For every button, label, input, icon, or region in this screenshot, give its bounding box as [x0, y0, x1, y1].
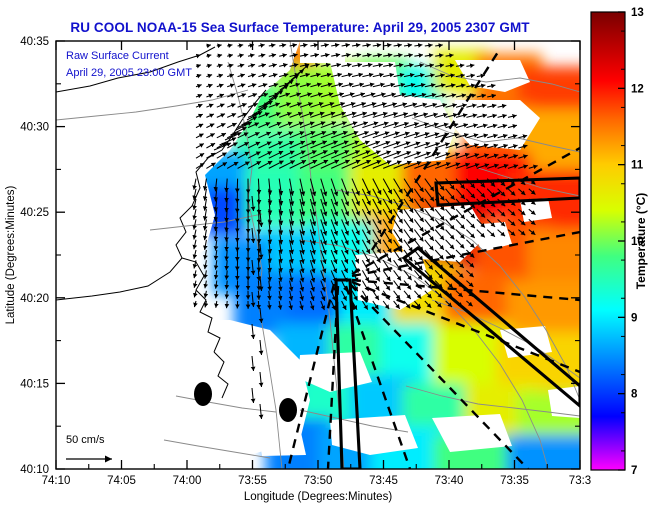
radar-site-east [279, 398, 297, 422]
current-vector [258, 281, 259, 291]
x-tick-label: 74:05 [107, 475, 136, 487]
temperature-field [56, 41, 594, 483]
current-vector [258, 270, 259, 281]
sst-map-figure: Raw Surface Current April 29, 2005 23:00… [0, 0, 651, 515]
colorbar-tick-label: 11 [631, 160, 644, 172]
y-axis-label: Latitude (Degrees:Minutes) [5, 185, 17, 324]
current-vector [227, 301, 228, 308]
colorbar-tick-label: 9 [631, 312, 637, 324]
y-tick-label: 40:20 [20, 293, 49, 305]
colorbar: 78910111213 Temperature (°C) [591, 7, 648, 477]
y-tick-label: 40:25 [20, 207, 49, 219]
current-vector [226, 291, 227, 299]
x-tick-label: 73:55 [238, 475, 267, 487]
y-tick-label: 40:15 [20, 378, 49, 390]
scale-legend-label: 50 cm/s [66, 434, 105, 446]
current-vector [258, 301, 259, 309]
x-tick-label: 73:50 [304, 475, 333, 487]
current-vector [258, 291, 259, 300]
x-tick-label: 73:45 [369, 475, 398, 487]
x-tick-label: 73:40 [435, 475, 464, 487]
x-tick-label: 74:10 [42, 475, 71, 487]
figure-root: RU COOL NOAA-15 Sea Surface Temperature:… [0, 0, 651, 515]
x-tick-label: 74:00 [173, 475, 202, 487]
x-tick-label: 73:35 [500, 475, 529, 487]
y-tick-label: 40:30 [20, 122, 49, 134]
colorbar-tick-label: 7 [631, 465, 637, 477]
y-tick-label: 40:35 [20, 36, 49, 48]
colorbar-label: Temperature (°C) [634, 193, 648, 290]
annotation-line-1: Raw Surface Current [66, 50, 169, 62]
annotation-line-2: April 29, 2005 23:00 GMT [66, 67, 192, 79]
colorbar-tick-label: 8 [631, 389, 638, 401]
current-vector [258, 260, 259, 272]
x-axis-label: Longitude (Degrees:Minutes) [244, 491, 392, 503]
colorbar-tick-label: 12 [631, 83, 644, 95]
radar-site-west [194, 382, 212, 406]
x-tick-label: 73:3 [569, 475, 591, 487]
colorbar-tick-label: 13 [631, 7, 644, 19]
